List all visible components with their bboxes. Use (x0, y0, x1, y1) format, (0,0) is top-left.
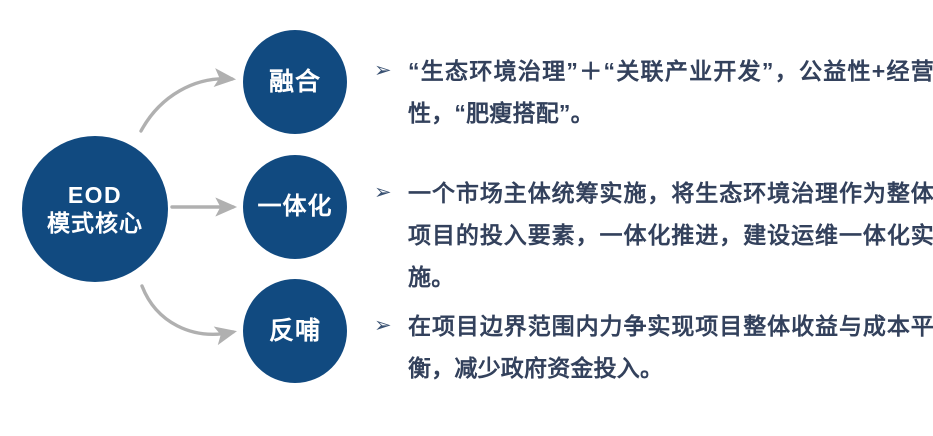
bullet-text-feedback: 在项目边界范围内力争实现项目整体收益与成本平衡，减少政府资金投入。 (408, 305, 933, 389)
bullet-text-fusion: “生态环境治理”＋“关联产业开发”，公益性+经营性，“肥瘦搭配”。 (408, 50, 933, 134)
branch-node-integration-label: 一体化 (258, 192, 333, 221)
bullet-item-integration: ➢ 一个市场主体统筹实施，将生态环境治理作为整体项目的投入要素，一体化推进，建设… (374, 172, 933, 298)
core-node-line-2: 模式核心 (47, 209, 143, 237)
bullet-arrow-icon: ➢ (374, 172, 408, 214)
eod-core-diagram: EOD 模式核心 融合 一体化 反哺 ➢ “生态环境治理”＋“关联产业开发”，公… (0, 0, 933, 436)
core-node-eod: EOD 模式核心 (22, 136, 168, 282)
core-node-line-1: EOD (68, 181, 122, 209)
arrow-curve-down-icon (142, 286, 233, 334)
branch-node-fusion: 融合 (243, 30, 347, 134)
branch-node-integration: 一体化 (243, 155, 347, 259)
bullet-arrow-icon: ➢ (374, 50, 408, 92)
branch-node-fusion-label: 融合 (269, 67, 321, 98)
branch-node-feedback-label: 反哺 (269, 316, 321, 347)
branch-node-feedback: 反哺 (243, 279, 347, 383)
bullet-arrow-icon: ➢ (374, 305, 408, 347)
bullet-text-integration: 一个市场主体统筹实施，将生态环境治理作为整体项目的投入要素，一体化推进，建设运维… (408, 172, 933, 298)
arrow-curve-up-icon (141, 79, 232, 131)
bullet-item-feedback: ➢ 在项目边界范围内力争实现项目整体收益与成本平衡，减少政府资金投入。 (374, 305, 933, 389)
bullet-item-fusion: ➢ “生态环境治理”＋“关联产业开发”，公益性+经营性，“肥瘦搭配”。 (374, 50, 933, 134)
